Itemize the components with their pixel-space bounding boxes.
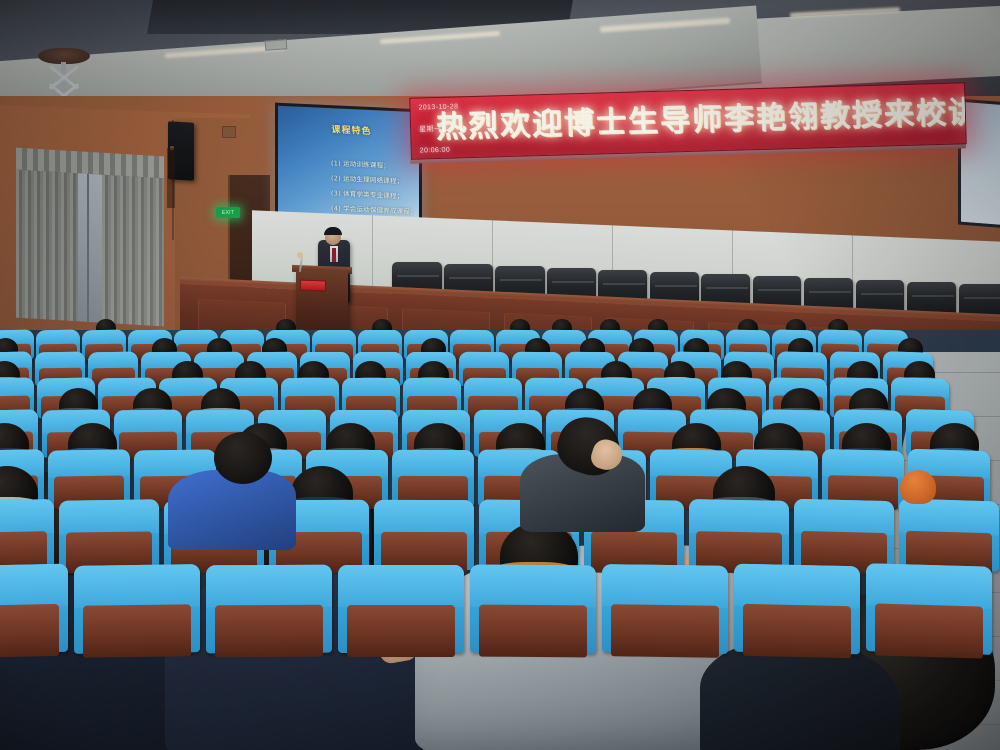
seat-back-panel — [0, 604, 59, 657]
seat-back-panel — [215, 605, 323, 657]
seat-back-panel — [743, 604, 851, 657]
seat-rim — [650, 449, 732, 478]
audience-seat[interactable] — [338, 565, 464, 653]
audience-seat[interactable] — [689, 499, 789, 571]
seat-rim — [0, 499, 54, 535]
slide-bullet: (1) 运动训练课程； — [331, 157, 419, 171]
seat-rim — [342, 378, 400, 397]
orange-bag — [900, 470, 936, 504]
door-frame-shadow — [167, 148, 175, 208]
audience-seat[interactable] — [74, 564, 200, 654]
microphone-icon — [297, 252, 303, 258]
seat-rim — [542, 330, 586, 345]
seat-rim — [512, 352, 562, 369]
slide-bullet: (3) 体育学类专业课程； — [331, 187, 419, 201]
seat-rim — [82, 330, 126, 345]
seat-rim — [403, 378, 461, 397]
seat-rim — [470, 564, 596, 607]
audience-seat[interactable] — [206, 565, 332, 654]
seat-rim — [392, 450, 474, 478]
seat-rim — [734, 564, 860, 609]
seat-back-panel — [611, 605, 719, 658]
lecturer-tie — [332, 248, 336, 262]
curtain-left-panel[interactable] — [16, 170, 78, 322]
ceiling-vent — [265, 39, 288, 51]
seat-rim — [822, 449, 904, 478]
audience-seat[interactable] — [392, 450, 474, 507]
seat-rim — [206, 565, 332, 608]
audience-seat[interactable] — [734, 564, 860, 655]
seat-rim — [48, 449, 130, 478]
window-mullion — [87, 174, 89, 322]
seat-back-panel — [875, 604, 983, 658]
audience-seat[interactable] — [59, 499, 159, 570]
wall-plate — [222, 126, 236, 138]
seat-rim — [338, 565, 464, 607]
seat-rim — [459, 352, 509, 369]
lecturer-hair — [324, 227, 342, 235]
audience-seat[interactable] — [0, 499, 54, 571]
audience-seat[interactable] — [374, 500, 474, 570]
seat-rim — [88, 352, 138, 369]
podium-nameplate — [300, 280, 326, 292]
seat-back-panel — [83, 605, 191, 657]
seat-rim — [866, 563, 992, 609]
blue-jacket-head — [214, 432, 272, 484]
seat-rim — [794, 499, 894, 535]
exit-sign-label: EXIT — [222, 210, 234, 216]
auditorium-photo: EXIT 课程特色 (1) 运动训练课程； (2) 运动生理网络课程； (3) … — [0, 0, 1000, 750]
seat-rim — [450, 330, 494, 345]
window-pane — [78, 173, 102, 322]
seat-rim — [602, 564, 728, 608]
seat-rim — [35, 352, 85, 369]
window-curtain-assembly — [16, 148, 164, 327]
seat-rim — [689, 499, 789, 534]
audience-seat[interactable] — [794, 499, 894, 571]
exit-sign-icon: EXIT — [216, 207, 240, 218]
seat-rim — [726, 330, 770, 345]
blue-jacket-student — [168, 430, 298, 550]
seat-rim — [194, 352, 244, 369]
seat-rim — [59, 499, 159, 534]
slide-bullet: (2) 运动生理网络课程； — [331, 172, 419, 186]
audience-seat[interactable] — [0, 564, 68, 654]
seat-rim — [358, 330, 402, 344]
seat-rim — [374, 500, 474, 534]
seat-back-panel — [347, 605, 455, 656]
seat-rim — [36, 330, 80, 345]
seat-rim — [74, 564, 200, 608]
seat-rim — [464, 378, 522, 398]
curtain-right-panel[interactable] — [102, 175, 164, 327]
seat-rim — [312, 330, 356, 344]
audience-seat[interactable] — [899, 499, 999, 572]
audience-seat[interactable] — [470, 564, 596, 653]
seat-rim — [0, 564, 68, 609]
seat-back-panel — [479, 605, 587, 657]
sleeping-student — [520, 418, 650, 528]
seat-rim — [0, 377, 34, 397]
slide-title: 课程特色 — [278, 120, 425, 140]
seat-rim — [281, 378, 339, 397]
seat-rim — [777, 351, 827, 368]
projection-screen: 课程特色 (1) 运动训练课程； (2) 运动生理网络课程； (3) 体育学类专… — [275, 103, 422, 230]
seat-row — [0, 565, 1000, 693]
seat-rim — [818, 329, 862, 344]
audience-seat[interactable] — [602, 564, 728, 654]
audience-seat[interactable] — [866, 563, 992, 655]
